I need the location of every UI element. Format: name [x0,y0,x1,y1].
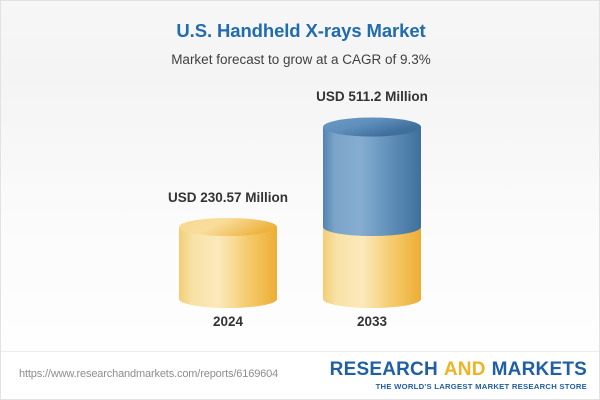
chart-footer: https://www.researchandmarkets.com/repor… [1,351,600,399]
bar-value-label-2024: USD 230.57 Million [118,190,338,205]
bar-group-2033: USD 511.2 Million [323,117,421,308]
brand-tagline: THE WORLD'S LARGEST MARKET RESEARCH STOR… [330,383,587,391]
bar-group-2024: USD 230.57 Million [179,218,277,308]
cylinder-2033 [323,117,421,308]
brand-word-research: RESEARCH [330,359,438,380]
cylinder-2024 [179,218,277,308]
bar-value-label-2033: USD 511.2 Million [262,89,482,104]
chart-header: U.S. Handheld X-rays Market Market forec… [1,1,600,67]
report-url[interactable]: https://www.researchandmarkets.com/repor… [19,368,278,380]
bar-category-label-2033: 2033 [262,314,482,329]
chart-card: U.S. Handheld X-rays Market Market forec… [0,0,600,400]
brand-wordmark: RESEARCHANDMARKETS [330,360,587,379]
chart-subtitle: Market forecast to grow at a CAGR of 9.3… [1,42,600,67]
research-and-markets-logo: RESEARCHANDMARKETS THE WORLD'S LARGEST M… [330,360,587,391]
brand-word-markets: MARKETS [492,359,587,380]
chart-plot-area: USD 230.57 Million [1,91,600,341]
chart-title: U.S. Handheld X-rays Market [1,1,600,42]
brand-word-and: AND [444,359,486,380]
